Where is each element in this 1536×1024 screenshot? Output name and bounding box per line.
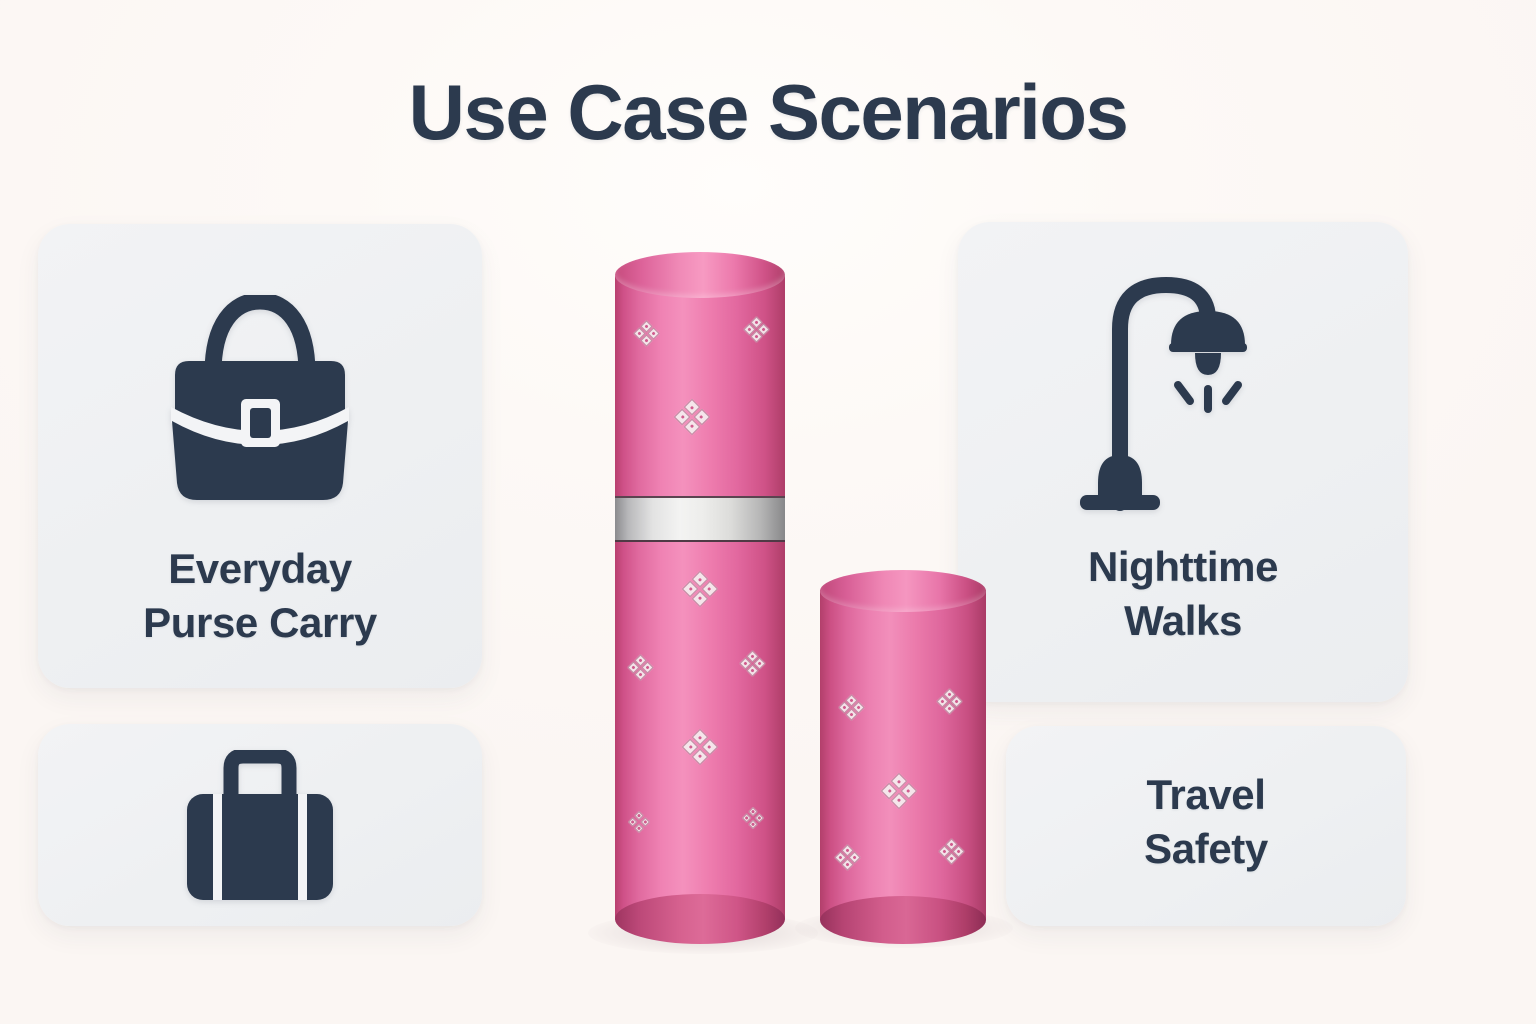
diamond-motif <box>682 729 719 766</box>
diamond-motif <box>742 807 765 830</box>
handbag-icon <box>38 282 482 522</box>
diamond-motif <box>743 316 770 343</box>
diamond-motif <box>627 654 654 681</box>
street-lamp-icon <box>958 262 1408 532</box>
card-label-line1: Travel <box>1146 771 1265 818</box>
card-travel-safety[interactable]: Travel Safety <box>1006 726 1406 926</box>
card-label-nighttime-walks: Nighttime Walks <box>958 540 1408 648</box>
card-everyday-purse[interactable]: Everyday Purse Carry <box>38 224 482 688</box>
diamond-motif <box>739 650 766 677</box>
card-label-everyday-purse: Everyday Purse Carry <box>38 542 482 650</box>
product-shadow-short <box>795 908 1013 948</box>
diamond-motif <box>628 811 651 834</box>
card-label-line1: Everyday <box>168 545 352 592</box>
short-cap-bottom <box>820 896 986 944</box>
card-travel-icon[interactable] <box>38 724 482 926</box>
diamond-motif <box>881 773 918 810</box>
diamond-motif <box>834 844 861 871</box>
diamond-motif <box>936 688 963 715</box>
tall-canister-bottom <box>615 894 785 944</box>
diamond-motif <box>838 694 865 721</box>
card-label-line1: Nighttime <box>1088 543 1278 590</box>
card-label-travel-safety: Travel Safety <box>1006 768 1406 876</box>
card-nighttime-walks[interactable]: Nighttime Walks <box>958 222 1408 702</box>
suitcase-icon <box>38 752 482 902</box>
street-lamp-icon-svg <box>1078 273 1288 521</box>
product-tall-canister <box>615 252 785 944</box>
tall-canister-top <box>615 252 785 298</box>
tall-canister-body <box>615 274 785 922</box>
handbag-icon-svg <box>155 295 365 510</box>
diamond-motif <box>633 320 660 347</box>
silver-band <box>615 496 785 542</box>
page-title: Use Case Scenarios <box>0 72 1536 154</box>
poster-canvas: Use Case Scenarios Everyday Purse Carry <box>0 0 1536 1024</box>
diamond-motif <box>674 399 711 436</box>
diamond-motif <box>938 838 965 865</box>
card-label-line2: Purse Carry <box>143 599 377 646</box>
product-shadow-tall <box>588 912 818 954</box>
card-label-line2: Walks <box>1124 597 1242 644</box>
diamond-motif <box>682 571 719 608</box>
suitcase-icon-svg <box>181 750 339 905</box>
card-label-line2: Safety <box>1144 825 1268 872</box>
